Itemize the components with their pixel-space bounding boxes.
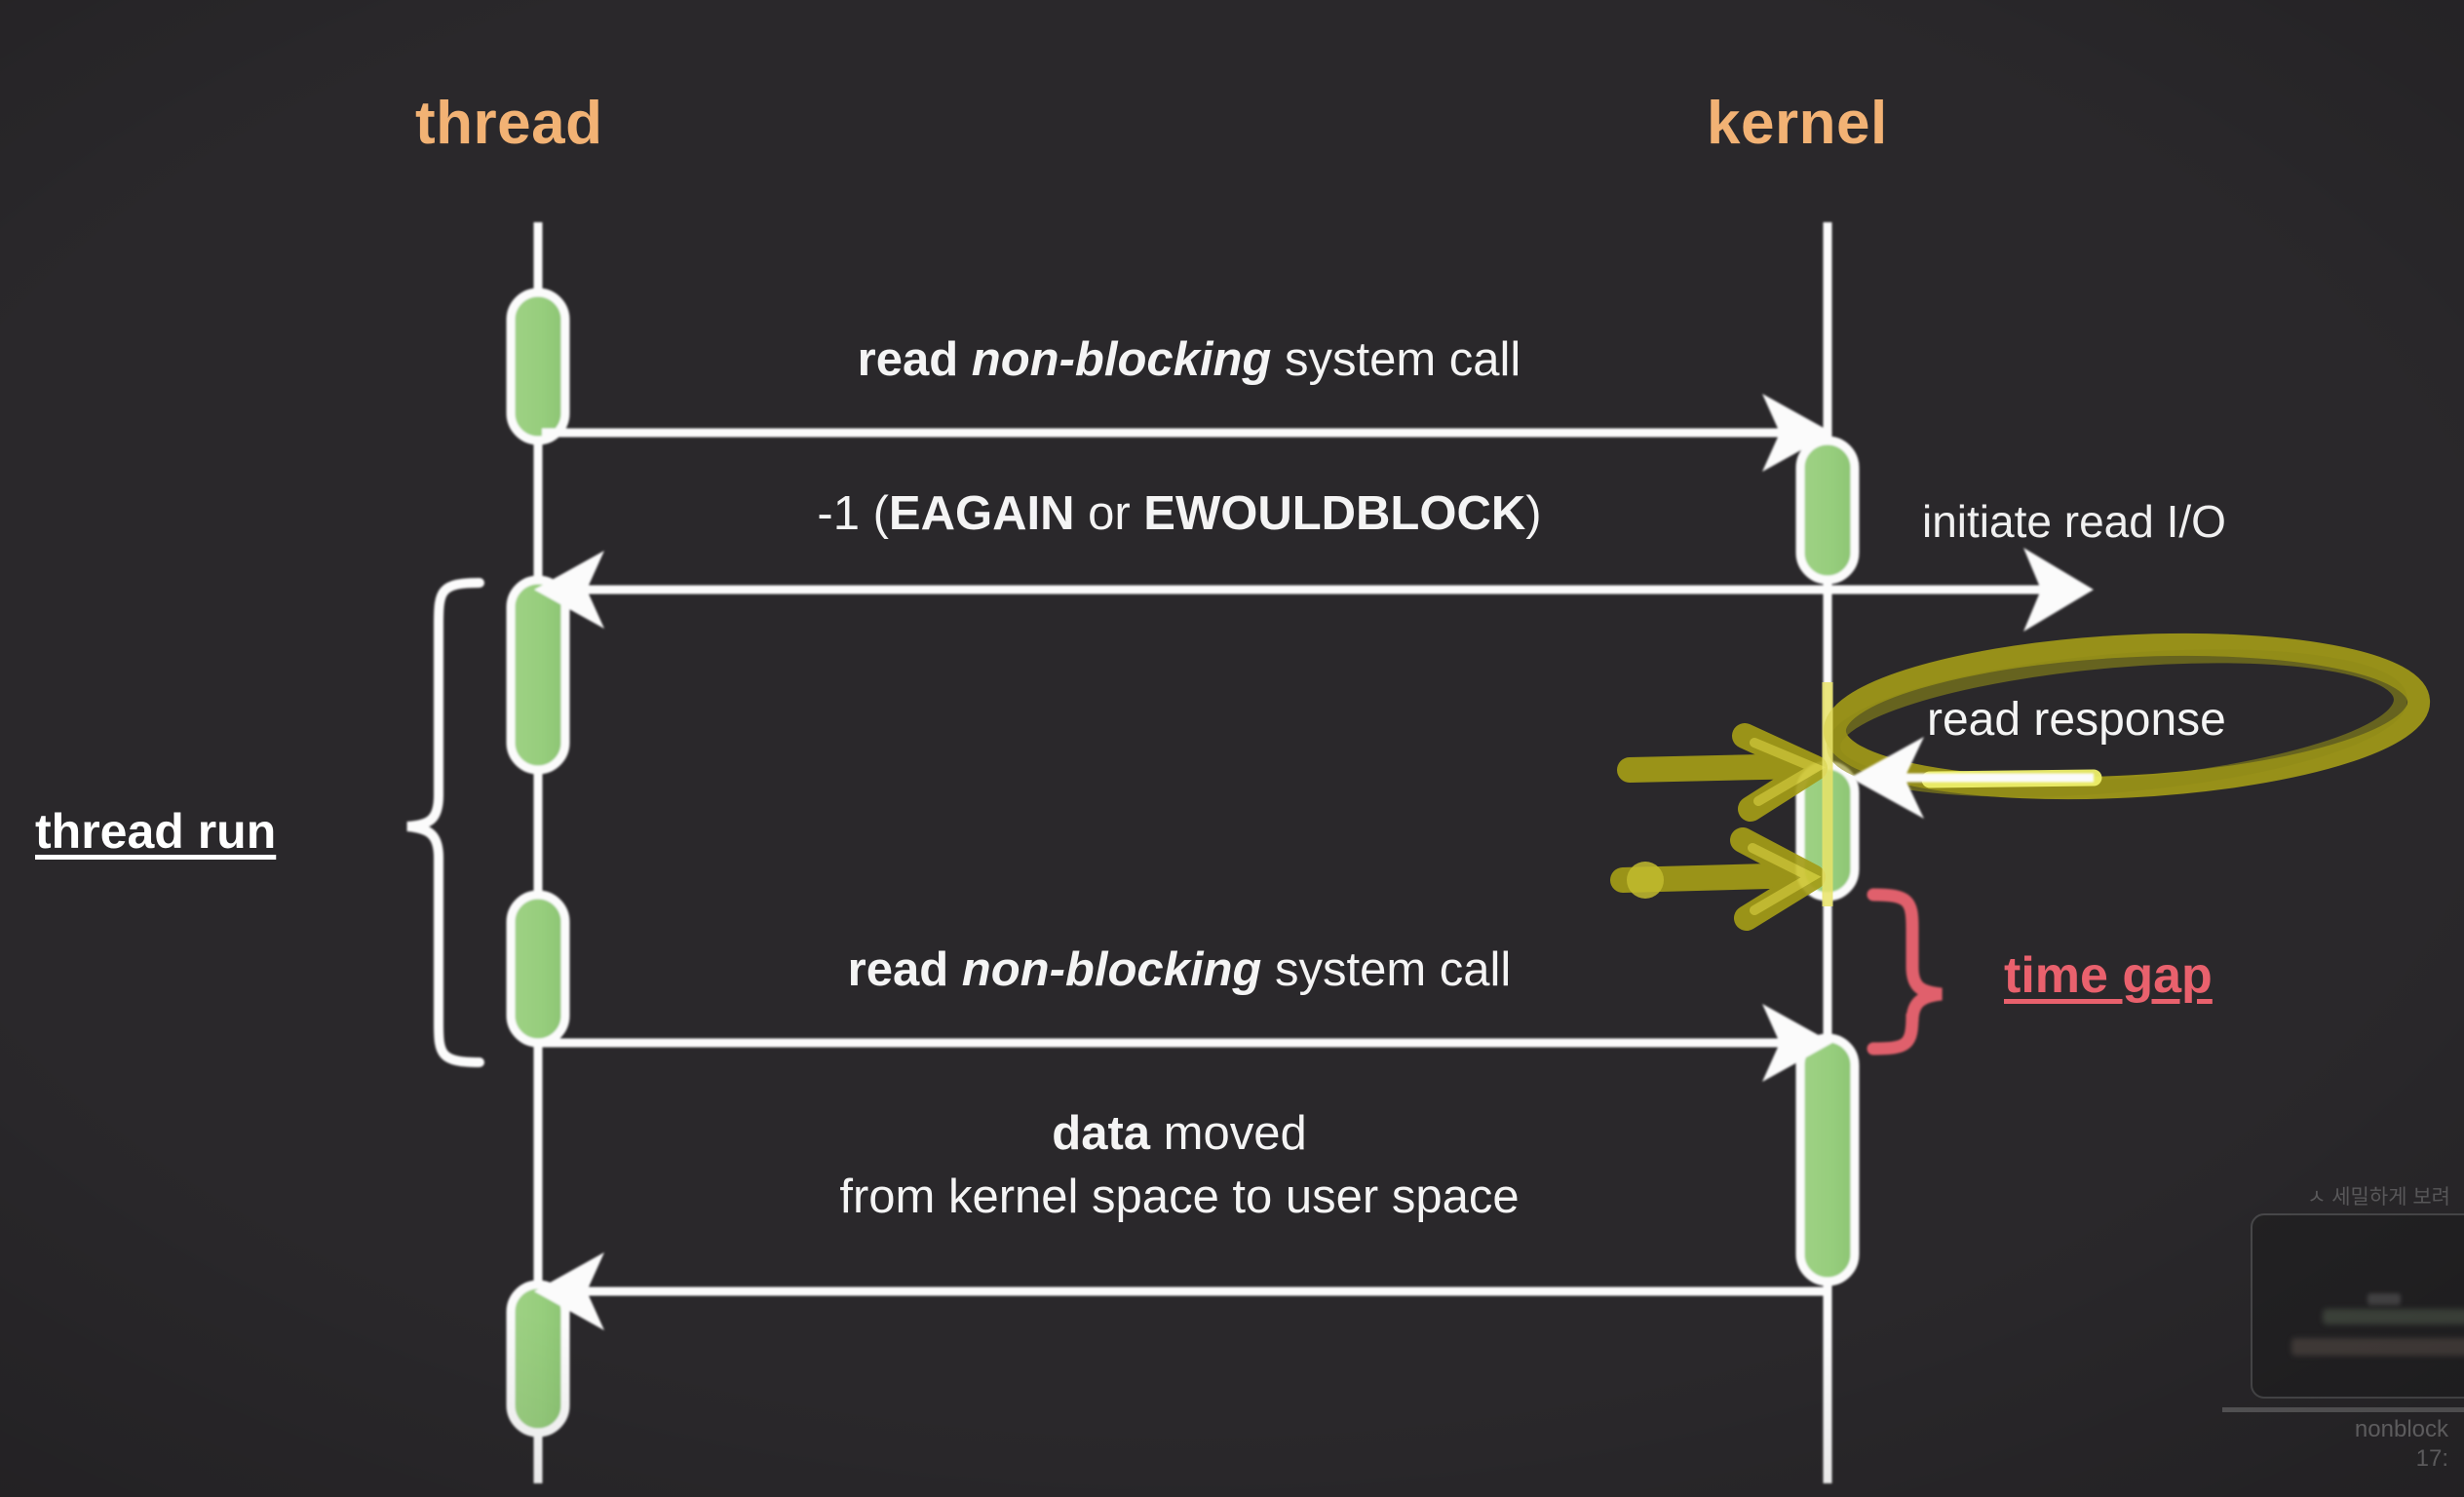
overlay-caption-time: 17: xyxy=(2355,1444,2448,1474)
msg2-part-or: or xyxy=(1075,487,1144,540)
slide-canvas: thread kernel xyxy=(0,0,2464,1497)
side-note-initiate-read-io: initiate read I/O xyxy=(1922,497,2226,548)
msg3-part-read: read xyxy=(848,943,962,996)
data-moved-line1: data moved xyxy=(565,1107,1793,1161)
thumbnail-blob-bottom xyxy=(2291,1338,2464,1356)
video-scrub-bar[interactable] xyxy=(2222,1407,2464,1412)
arrow-read-nonblocking-2 xyxy=(542,1004,1832,1082)
thread-run-brace xyxy=(407,583,480,1062)
msg2-part-minus1: -1 ( xyxy=(817,487,889,540)
message-label-read-nonblocking-2: read non-blocking system call xyxy=(565,943,1793,997)
msg1-part-syscall: system call xyxy=(1271,333,1521,386)
msg2-part-eagain: EAGAIN xyxy=(889,487,1075,540)
time-gap-brace xyxy=(1873,895,1942,1049)
msg1-part-nonblocking: non-blocking xyxy=(972,333,1272,386)
annotation-time-gap: time gap xyxy=(2004,947,2213,1004)
arrow-read-response xyxy=(1850,737,2094,819)
msg3-part-syscall: system call xyxy=(1261,943,1511,996)
msg3-part-nonblocking: non-blocking xyxy=(962,943,1262,996)
actor-label-kernel: kernel xyxy=(1707,90,1888,157)
data-moved-line2: from kernel space to user space xyxy=(565,1171,1793,1224)
arrow-read-nonblocking-1 xyxy=(542,394,1832,472)
thumbnail-blob-mid xyxy=(2323,1309,2464,1324)
msg2-part-ewouldblock: EWOULDBLOCK xyxy=(1143,487,1525,540)
thumbnail-blob-top xyxy=(2368,1293,2401,1305)
msg2-part-close-paren: ) xyxy=(1525,487,1541,540)
overlay-caption-title: nonblock xyxy=(2355,1415,2448,1444)
arrow-eagain-return xyxy=(534,551,1825,629)
highlighter-arrows-annotation xyxy=(1623,736,1815,918)
actor-label-thread: thread xyxy=(415,90,602,157)
overlay-caption: nonblock 17: xyxy=(2355,1415,2448,1474)
msg1-part-read: read xyxy=(858,333,972,386)
diagram-graphics xyxy=(0,0,2464,1497)
msg4-part-data: data xyxy=(1052,1107,1150,1160)
message-label-eagain: -1 (EAGAIN or EWOULDBLOCK) xyxy=(565,487,1793,541)
arrow-data-moved xyxy=(534,1252,1825,1330)
overlay-korean-note: ㅅ 세밀하게 보려 xyxy=(2307,1181,2450,1210)
message-label-read-nonblocking-1: read non-blocking system call xyxy=(585,333,1793,387)
side-note-read-response: read response xyxy=(1927,694,2226,747)
arrow-initiate-read-io xyxy=(1830,548,2094,632)
video-thumbnail[interactable] xyxy=(2251,1213,2464,1399)
annotation-thread-run: thread run xyxy=(35,804,276,859)
msg4-part-moved: moved xyxy=(1150,1107,1307,1160)
message-label-data-moved: data moved from kernel space to user spa… xyxy=(565,1107,1793,1224)
